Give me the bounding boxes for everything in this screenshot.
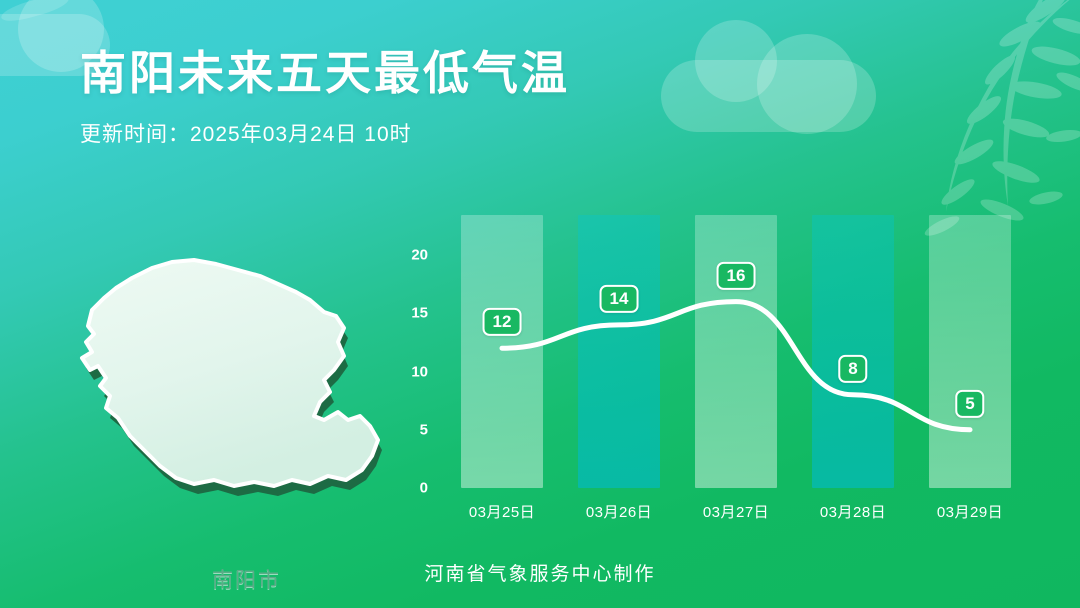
- temperature-chart: 05101520 12141685 03月25日03月26日03月27日03月2…: [424, 205, 1024, 505]
- y-axis-tick: 0: [388, 480, 428, 497]
- value-badge: 16: [717, 261, 756, 289]
- value-badge: 14: [600, 285, 639, 313]
- y-axis-tick: 20: [388, 247, 428, 264]
- value-badge: 5: [955, 390, 984, 418]
- temperature-line: [424, 205, 1024, 505]
- x-axis-label: 03月25日: [442, 501, 562, 522]
- value-badge: 12: [483, 308, 522, 336]
- update-time: 更新时间：2025年03月24日 10时: [80, 118, 570, 148]
- value-badge: 8: [838, 355, 867, 383]
- cloud-wisp-icon: [0, 0, 71, 25]
- x-axis-label: 03月26日: [559, 501, 679, 522]
- weather-poster: 南阳未来五天最低气温 更新时间：2025年03月24日 10时 南阳市 0510…: [0, 0, 1080, 608]
- nanyang-map-shape: [52, 228, 422, 516]
- willow-branch-icon: [850, 0, 1080, 236]
- x-axis-label: 03月27日: [676, 501, 796, 522]
- region-map: 南阳市: [52, 228, 422, 516]
- header: 南阳未来五天最低气温 更新时间：2025年03月24日 10时: [80, 46, 570, 148]
- page-title: 南阳未来五天最低气温: [80, 46, 570, 100]
- x-axis-label: 03月28日: [793, 501, 913, 522]
- x-axis-label: 03月29日: [910, 501, 1030, 522]
- y-axis-tick: 10: [388, 363, 428, 380]
- footer-credit: 河南省气象服务中心制作: [0, 559, 1080, 586]
- y-axis-tick: 15: [388, 305, 428, 322]
- y-axis-tick: 5: [388, 421, 428, 438]
- cloud-icon: [655, 20, 905, 115]
